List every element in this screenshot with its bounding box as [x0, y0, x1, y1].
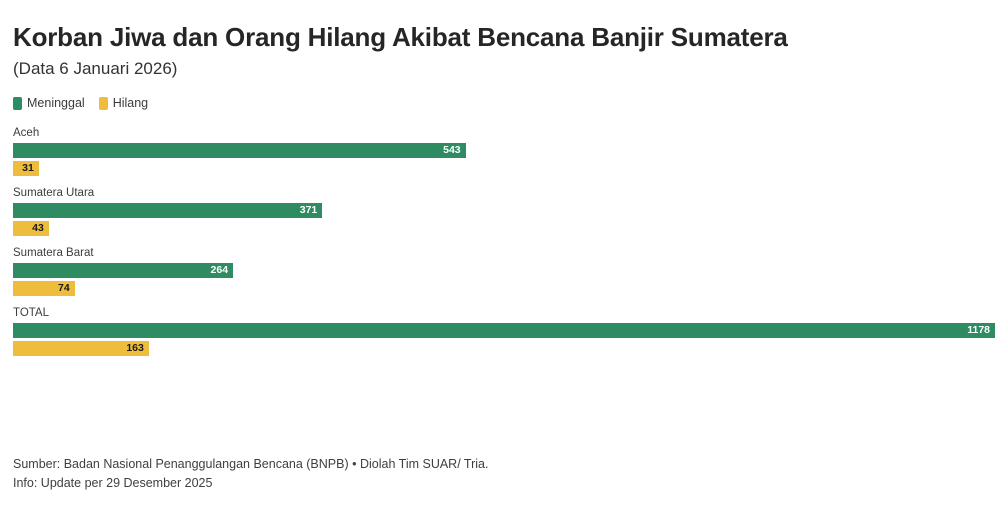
legend-label-hilang: Hilang [113, 96, 148, 110]
bar-row-meninggal: 543 [13, 143, 995, 158]
bar-hilang[interactable]: 74 [13, 281, 75, 296]
bar-row-meninggal: 264 [13, 263, 995, 278]
legend-label-meninggal: Meninggal [27, 96, 85, 110]
bar-meninggal[interactable]: 371 [13, 203, 322, 218]
bar-group-sumatera-barat: Sumatera Barat 264 74 [13, 246, 995, 296]
chart-subtitle: (Data 6 Januari 2026) [13, 52, 995, 79]
bar-value-label: 163 [126, 343, 144, 354]
bar-value-label: 31 [22, 163, 34, 174]
bar-row-hilang: 74 [13, 281, 995, 296]
bar-meninggal[interactable]: 543 [13, 143, 466, 158]
chart-title: Korban Jiwa dan Orang Hilang Akibat Benc… [13, 0, 995, 52]
bar-value-label: 74 [58, 283, 70, 294]
bar-group-label: TOTAL [13, 306, 995, 320]
bar-group-label: Aceh [13, 126, 995, 140]
bar-hilang[interactable]: 43 [13, 221, 49, 236]
legend-item-hilang[interactable]: Hilang [99, 96, 148, 110]
chart-footer: Sumber: Badan Nasional Penanggulangan Be… [13, 455, 973, 493]
bar-meninggal[interactable]: 264 [13, 263, 233, 278]
bar-group-sumatera-utara: Sumatera Utara 371 43 [13, 186, 995, 236]
bar-hilang[interactable]: 163 [13, 341, 149, 356]
bar-group-total: TOTAL 1178 163 [13, 306, 995, 356]
chart-legend: Meninggal Hilang [13, 96, 995, 110]
chart-plot-area: Aceh 543 31 Sumatera Utara 371 [13, 126, 995, 356]
bar-group-label: Sumatera Utara [13, 186, 995, 200]
bar-row-hilang: 43 [13, 221, 995, 236]
bar-value-label: 543 [443, 145, 461, 156]
chart-container: Korban Jiwa dan Orang Hilang Akibat Benc… [0, 0, 1008, 510]
bar-value-label: 43 [32, 223, 44, 234]
bar-value-label: 264 [211, 265, 229, 276]
bar-group-label: Sumatera Barat [13, 246, 995, 260]
footer-info-line: Info: Update per 29 Desember 2025 [13, 474, 973, 493]
bar-row-hilang: 163 [13, 341, 995, 356]
footer-source-line: Sumber: Badan Nasional Penanggulangan Be… [13, 455, 973, 474]
bar-meninggal[interactable]: 1178 [13, 323, 995, 338]
bar-row-meninggal: 371 [13, 203, 995, 218]
bar-value-label: 371 [300, 205, 318, 216]
bar-hilang[interactable]: 31 [13, 161, 39, 176]
legend-swatch-icon-hilang [99, 97, 108, 110]
legend-item-meninggal[interactable]: Meninggal [13, 96, 85, 110]
bar-value-label: 1178 [967, 325, 990, 336]
legend-swatch-icon-meninggal [13, 97, 22, 110]
bar-row-meninggal: 1178 [13, 323, 995, 338]
bar-row-hilang: 31 [13, 161, 995, 176]
bar-group-aceh: Aceh 543 31 [13, 126, 995, 176]
